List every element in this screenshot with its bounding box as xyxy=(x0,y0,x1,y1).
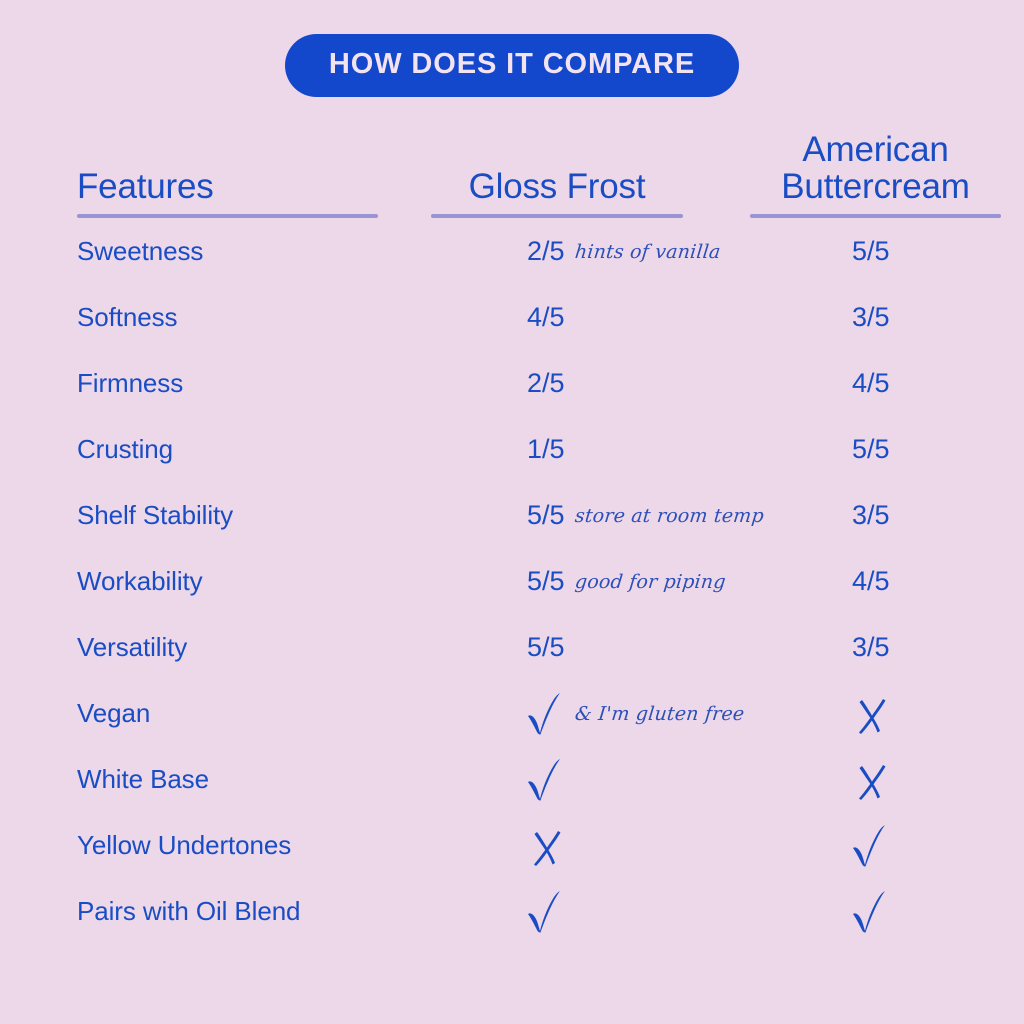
feature-label: Crusting xyxy=(77,434,378,465)
handwritten-note: good for piping xyxy=(573,571,726,593)
score-value: 3/5 xyxy=(852,632,890,663)
score-value: 5/5 xyxy=(527,632,565,663)
cell-american xyxy=(750,822,1001,868)
cross-icon xyxy=(852,756,894,802)
table-row: Versatility5/53/5 xyxy=(0,614,1024,680)
cell-gloss-frost: 2/5 xyxy=(431,368,683,399)
header-rules xyxy=(0,214,1024,218)
cell-gloss-frost xyxy=(431,756,683,802)
handwritten-note: hints of vanilla xyxy=(573,241,721,263)
score-value: 4/5 xyxy=(527,302,565,333)
feature-label: Softness xyxy=(77,302,378,333)
cell-american: 4/5 xyxy=(750,566,1001,597)
cross-icon xyxy=(527,822,569,868)
header-badge-container: HOW DOES IT COMPARE xyxy=(0,0,1024,97)
column-header-american-buttercream: American Buttercream xyxy=(750,131,1001,205)
table-body: Sweetness2/5hints of vanilla5/5Softness4… xyxy=(0,218,1024,944)
table-header-row: Features Gloss Frost American Buttercrea… xyxy=(0,115,1024,205)
feature-label: Vegan xyxy=(77,698,378,729)
table-row: Firmness2/54/5 xyxy=(0,350,1024,416)
feature-label: Sweetness xyxy=(77,236,378,267)
score-value: 5/5 xyxy=(527,566,565,597)
score-value: 1/5 xyxy=(527,434,565,465)
header-rule-features xyxy=(77,214,378,218)
table-row: Pairs with Oil Blend xyxy=(0,878,1024,944)
table-row: Crusting1/55/5 xyxy=(0,416,1024,482)
column-header-gloss-frost: Gloss Frost xyxy=(431,168,683,205)
score-value: 3/5 xyxy=(852,302,890,333)
cell-american: 5/5 xyxy=(750,236,1001,267)
check-icon xyxy=(848,822,890,868)
cell-american: 3/5 xyxy=(750,500,1001,531)
table-row: Softness4/53/5 xyxy=(0,284,1024,350)
check-icon xyxy=(848,888,890,934)
cross-icon xyxy=(852,690,894,736)
cell-gloss-frost xyxy=(431,822,683,868)
feature-label: Shelf Stability xyxy=(77,500,378,531)
cell-american xyxy=(750,756,1001,802)
cell-gloss-frost xyxy=(431,888,683,934)
score-value: 5/5 xyxy=(852,236,890,267)
cell-american: 3/5 xyxy=(750,632,1001,663)
header-rule-american-buttercream xyxy=(750,214,1001,218)
feature-label: White Base xyxy=(77,764,378,795)
check-icon xyxy=(523,690,565,736)
score-value: 5/5 xyxy=(852,434,890,465)
table-row: Vegan& I'm gluten free xyxy=(0,680,1024,746)
handwritten-note: & I'm gluten free xyxy=(574,703,746,725)
cell-gloss-frost: 5/5good for piping xyxy=(431,566,683,597)
cell-gloss-frost: 5/5store at room temp xyxy=(431,500,683,531)
table-row: Yellow Undertones xyxy=(0,812,1024,878)
cell-american xyxy=(750,690,1001,736)
comparison-table: Features Gloss Frost American Buttercrea… xyxy=(0,115,1024,944)
feature-label: Firmness xyxy=(77,368,378,399)
cell-american: 4/5 xyxy=(750,368,1001,399)
check-icon xyxy=(523,756,565,802)
feature-label: Pairs with Oil Blend xyxy=(77,896,378,927)
check-icon xyxy=(523,888,565,934)
cell-gloss-frost: & I'm gluten free xyxy=(431,690,683,736)
score-value: 5/5 xyxy=(527,500,565,531)
score-value: 4/5 xyxy=(852,368,890,399)
feature-label: Yellow Undertones xyxy=(77,830,378,861)
table-row: Workability5/5good for piping4/5 xyxy=(0,548,1024,614)
cell-american xyxy=(750,888,1001,934)
column-header-american-buttercream-line1: American xyxy=(750,131,1001,168)
feature-label: Versatility xyxy=(77,632,378,663)
header-rule-gloss-frost xyxy=(431,214,683,218)
table-row: Sweetness2/5hints of vanilla5/5 xyxy=(0,218,1024,284)
column-header-american-buttercream-line2: Buttercream xyxy=(750,168,1001,205)
cell-american: 5/5 xyxy=(750,434,1001,465)
cell-gloss-frost: 2/5hints of vanilla xyxy=(431,236,683,267)
cell-american: 3/5 xyxy=(750,302,1001,333)
handwritten-note: store at room temp xyxy=(573,505,764,527)
cell-gloss-frost: 1/5 xyxy=(431,434,683,465)
score-value: 2/5 xyxy=(527,236,565,267)
feature-label: Workability xyxy=(77,566,378,597)
table-row: White Base xyxy=(0,746,1024,812)
score-value: 2/5 xyxy=(527,368,565,399)
column-header-features: Features xyxy=(77,168,378,205)
header-badge: HOW DOES IT COMPARE xyxy=(285,34,739,97)
score-value: 3/5 xyxy=(852,500,890,531)
cell-gloss-frost: 5/5 xyxy=(431,632,683,663)
score-value: 4/5 xyxy=(852,566,890,597)
table-row: Shelf Stability5/5store at room temp3/5 xyxy=(0,482,1024,548)
cell-gloss-frost: 4/5 xyxy=(431,302,683,333)
